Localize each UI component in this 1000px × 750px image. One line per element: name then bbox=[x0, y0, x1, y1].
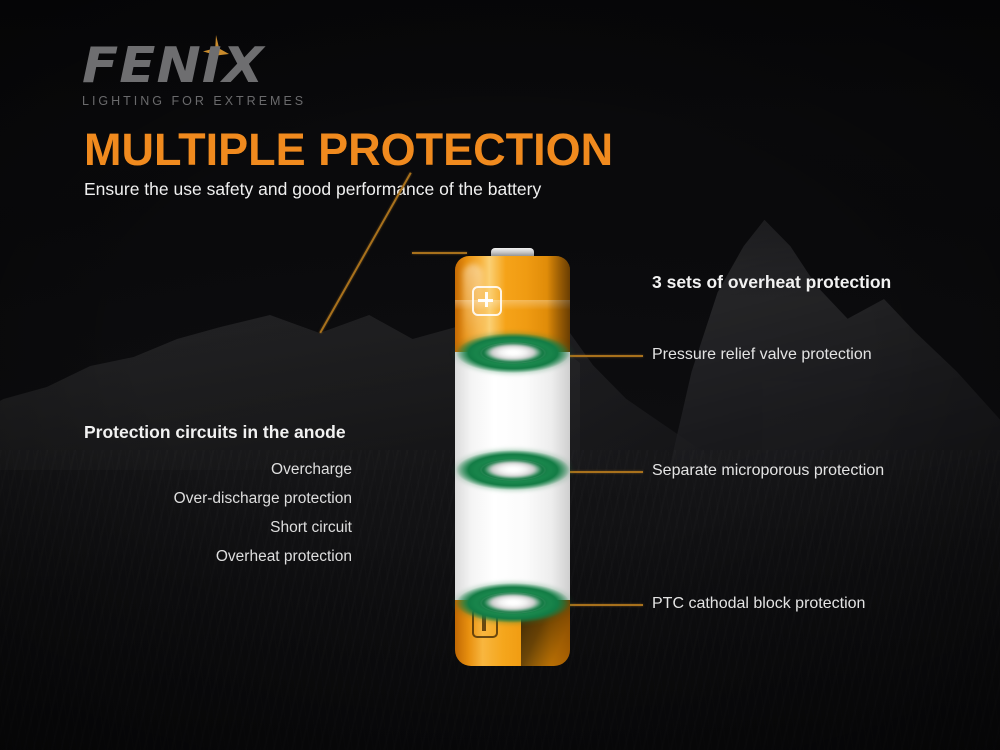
list-item: Short circuit bbox=[174, 519, 352, 537]
protection-ring-microporous bbox=[451, 447, 575, 493]
plus-icon bbox=[472, 286, 502, 316]
list-item: Over-discharge protection bbox=[174, 490, 352, 508]
callout-overheat-sets: 3 sets of overheat protection bbox=[652, 272, 891, 293]
battery-illustration bbox=[455, 248, 570, 668]
connector-right-microporous bbox=[565, 471, 643, 473]
page-subtitle: Ensure the use safety and good performan… bbox=[84, 179, 541, 200]
callout-anode-heading: Protection circuits in the anode bbox=[84, 422, 346, 443]
callout-pressure-relief-valve: Pressure relief valve protection bbox=[652, 346, 872, 364]
fenix-logo: FENIX LIGHTING FOR EXTREMES bbox=[82, 40, 342, 112]
logo-tagline: LIGHTING FOR EXTREMES bbox=[82, 94, 342, 108]
logo-wordmark: FENIX bbox=[82, 40, 363, 92]
protection-ring-valve bbox=[451, 330, 575, 376]
anode-protection-list: Overcharge Over-discharge protection Sho… bbox=[174, 461, 352, 577]
page-title: MULTIPLE PROTECTION bbox=[84, 124, 613, 176]
connector-right-valve bbox=[565, 355, 643, 357]
connector-right-ptc bbox=[565, 604, 643, 606]
callout-ptc-cathodal-block: PTC cathodal block protection bbox=[652, 595, 865, 613]
list-item: Overcharge bbox=[174, 461, 352, 479]
infographic-canvas: FENIX LIGHTING FOR EXTREMES MULTIPLE PRO… bbox=[0, 0, 1000, 750]
list-item: Overheat protection bbox=[174, 548, 352, 566]
callout-separate-microporous: Separate microporous protection bbox=[652, 462, 884, 480]
protection-ring-ptc bbox=[451, 580, 575, 626]
